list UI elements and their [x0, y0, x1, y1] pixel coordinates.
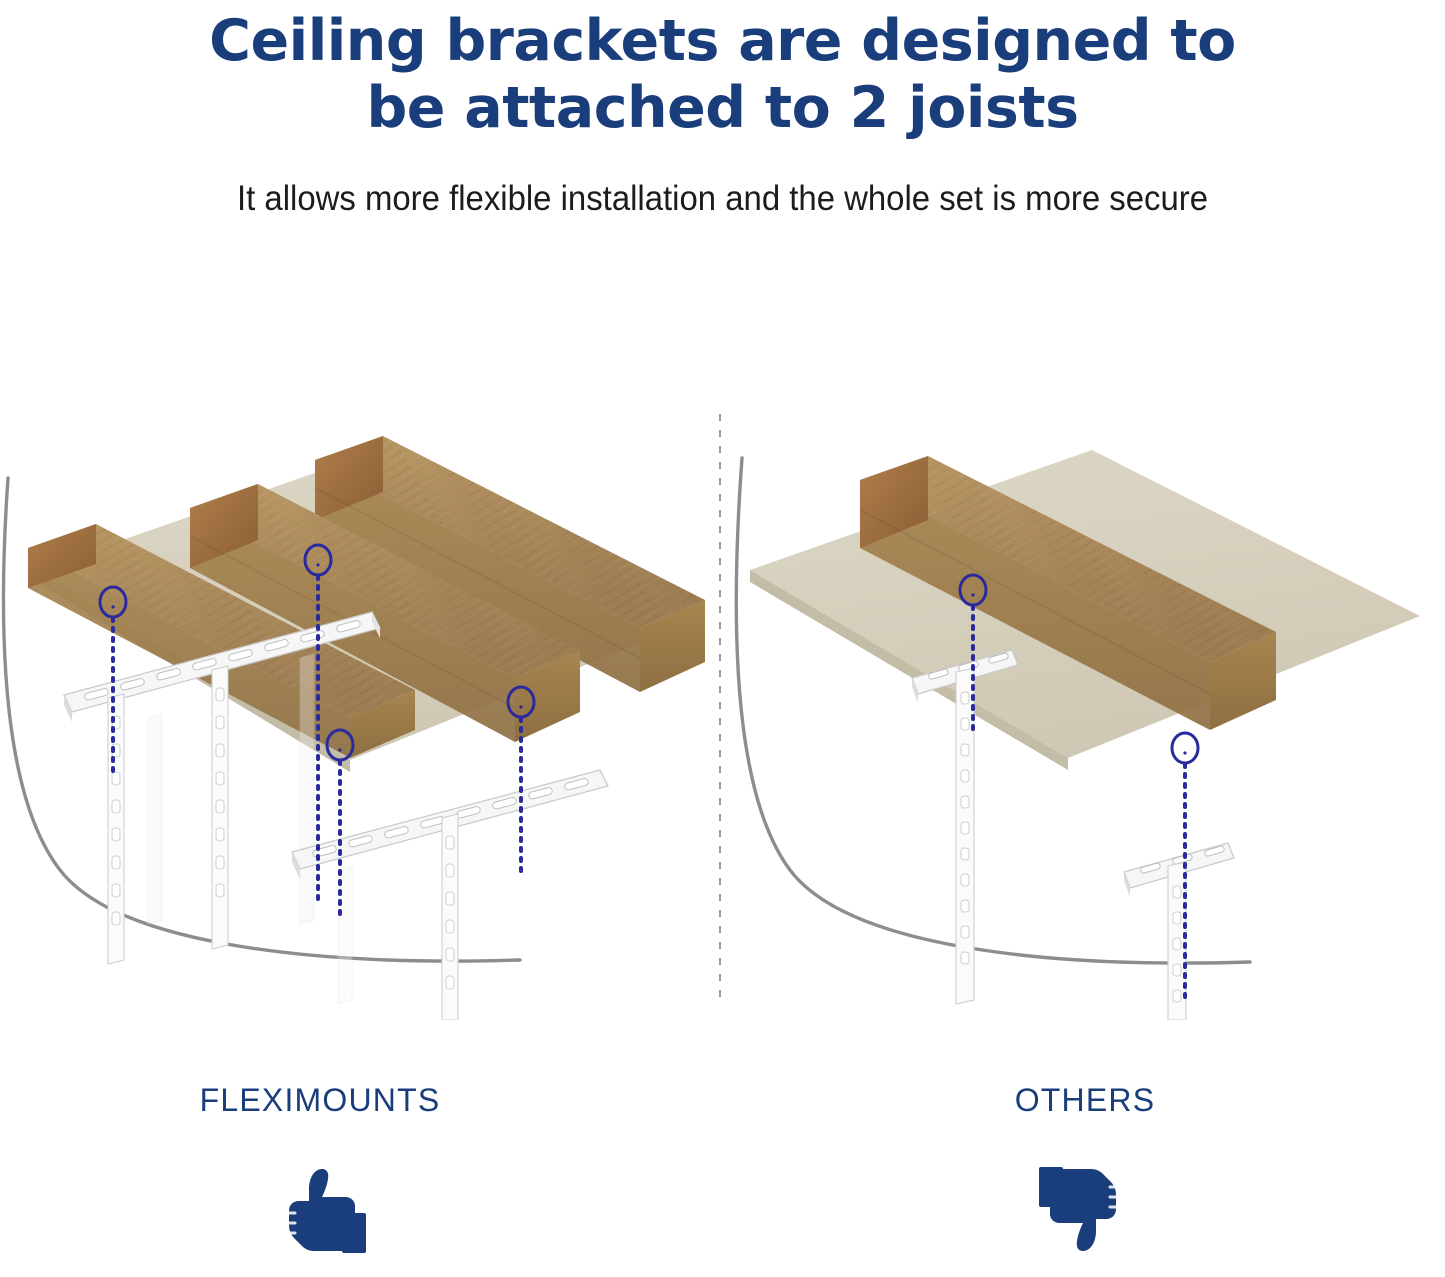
vertical-post-a1	[108, 694, 124, 964]
diagram-fleximounts	[0, 400, 720, 1020]
title-line-2: be attached to 2 joists	[0, 75, 1445, 142]
footer-column-fleximounts: FLEXIMOUNTS	[0, 1080, 680, 1255]
page-title: Ceiling brackets are designed to be atta…	[0, 0, 1445, 142]
infographic-root: Ceiling brackets are designed to be atta…	[0, 0, 1445, 1277]
thumbs-up-icon	[0, 1165, 680, 1255]
header: Ceiling brackets are designed to be atta…	[0, 0, 1445, 270]
ghost-posts-b	[338, 866, 352, 1004]
vertical-post-b1	[442, 814, 458, 1020]
others-label: OTHERS	[725, 1080, 1445, 1120]
fleximounts-label: FLEXIMOUNTS	[0, 1080, 680, 1120]
vertical-post-a2	[212, 666, 228, 949]
page-subtitle: It allows more flexible installation and…	[43, 178, 1401, 220]
thumbs-down-icon	[725, 1165, 1445, 1255]
footer-column-others: OTHERS	[725, 1080, 1445, 1255]
bracket-assembly-b	[1124, 843, 1234, 1020]
footer: FLEXIMOUNTS OTHERS	[0, 1080, 1445, 1277]
diagram-others	[720, 400, 1445, 1020]
title-line-1: Ceiling brackets are designed to	[0, 8, 1445, 75]
